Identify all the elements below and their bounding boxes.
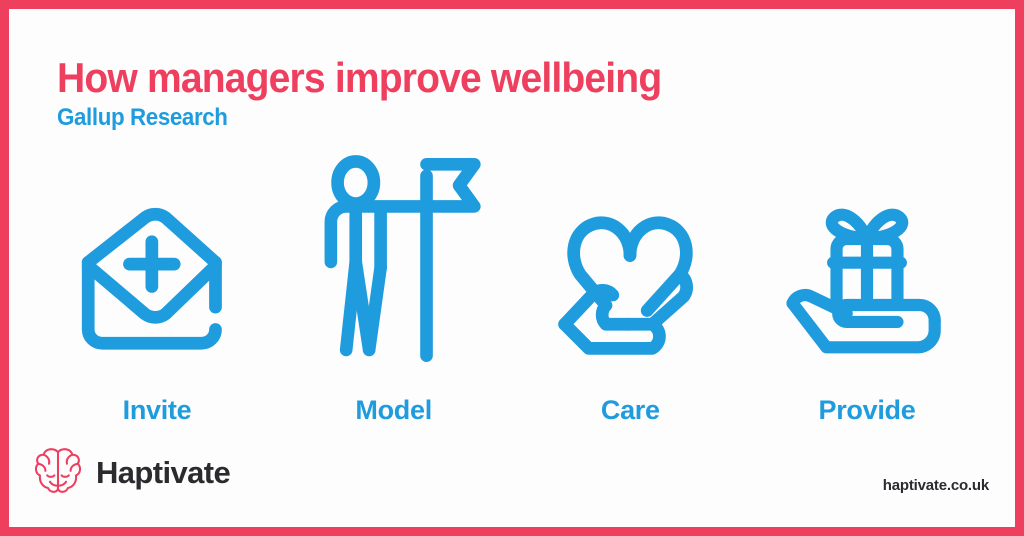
step-provide: Provide — [749, 149, 985, 426]
steps-row: Invite — [39, 149, 985, 426]
step-label-model: Model — [355, 395, 432, 426]
poster-frame: How managers improve wellbeing Gallup Re… — [0, 0, 1024, 536]
person-with-flag-icon — [306, 149, 482, 369]
header: How managers improve wellbeing Gallup Re… — [57, 55, 707, 132]
smiling-brain-logo — [31, 443, 85, 502]
step-label-invite: Invite — [123, 395, 192, 426]
step-care: Care — [512, 149, 748, 426]
page-title: How managers improve wellbeing — [57, 55, 661, 101]
hand-holding-gift-icon — [779, 149, 955, 369]
hand-holding-heart-icon — [544, 149, 716, 369]
step-model: Model — [276, 149, 512, 426]
page-subtitle: Gallup Research — [57, 104, 661, 132]
step-label-provide: Provide — [819, 395, 916, 426]
poster-canvas: How managers improve wellbeing Gallup Re… — [9, 9, 1015, 527]
footer-url: haptivate.co.uk — [883, 477, 989, 494]
footer-logo: Haptivate — [31, 443, 230, 502]
step-label-care: Care — [601, 395, 660, 426]
step-invite: Invite — [39, 149, 275, 426]
brand-name: Haptivate — [96, 455, 230, 491]
open-envelope-plus-icon — [71, 149, 243, 369]
